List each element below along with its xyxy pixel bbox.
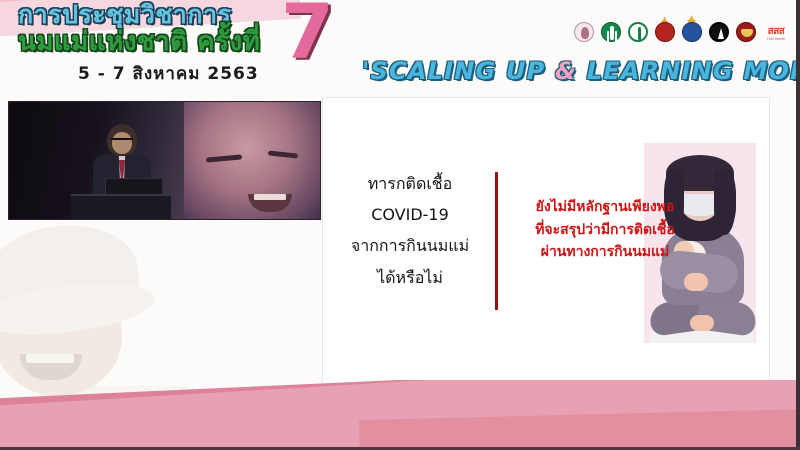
- conference-title-block: การประชุมวิชาการ นมแม่แห่งชาติ ครั้งที่ …: [18, 2, 260, 87]
- question-line-1: ทารกติดเชื้อ: [335, 168, 485, 199]
- logo-medical-council-icon: [735, 22, 757, 48]
- speaker-face: [112, 132, 132, 154]
- conference-tagline: 'SCALING UP & LEARNING MORE': [362, 57, 800, 85]
- logo-thaihealth-sss-icon: สสส Thai Health: [762, 22, 790, 48]
- tagline-ampersand: &: [555, 57, 577, 85]
- speaker-at-podium-video[interactable]: [8, 101, 321, 220]
- illustration-hair-right: [714, 169, 736, 235]
- conference-edition-number: 7: [281, 0, 334, 70]
- video-baby-face-backdrop: [184, 102, 320, 220]
- question-line-3: จากการกินนมแม่: [335, 230, 485, 261]
- window-edge-right: [796, 0, 800, 450]
- logo-royal-college-icon: [654, 22, 676, 48]
- question-line-2: COVID-19: [335, 199, 485, 230]
- illustration-foot: [690, 315, 714, 331]
- speaker-glasses-icon: [111, 138, 133, 143]
- presentation-slide: การประชุมวิชาการ นมแม่แห่งชาติ ครั้งที่ …: [0, 0, 800, 450]
- logo-thai-breastfeeding-foundation-icon: [573, 22, 595, 48]
- logo-royal-institute-icon: [681, 22, 703, 48]
- question-text-block: ทารกติดเชื้อ COVID-19 จากการกินนมแม่ ได้…: [335, 168, 485, 293]
- illustration-mother-hand: [684, 273, 708, 291]
- answer-line-1: ยังไม่มีหลักฐานเพียงพอ: [505, 196, 705, 219]
- conference-title-line2: นมแม่แห่งชาติ ครั้งที่: [18, 29, 260, 55]
- thaihealth-wordmark: สสส: [762, 27, 790, 37]
- thaihealth-subtext: Thai Health: [762, 37, 790, 41]
- baby-teeth: [254, 194, 286, 200]
- answer-text-block: ยังไม่มีหลักฐานเพียงพอ ที่จะสรุปว่ามีการ…: [505, 196, 705, 264]
- conference-title-line1: การประชุมวิชาการ: [18, 2, 260, 27]
- answer-line-3: ผ่านทางการกินนมแม่: [505, 241, 705, 264]
- logo-nursing-council-icon: [708, 22, 730, 48]
- podium: [71, 194, 171, 220]
- tagline-part-1: 'SCALING UP: [362, 57, 555, 85]
- baby-eye-right: [268, 150, 298, 158]
- logo-department-of-health-icon: [627, 22, 649, 48]
- organization-logo-strip: สสส Thai Health: [573, 22, 790, 48]
- conference-date: 5 - 7 สิงหาคม 2563: [78, 60, 260, 87]
- slide-footer-band: [0, 380, 800, 450]
- logo-ministry-of-public-health-icon: [600, 22, 622, 48]
- vertical-red-divider: [495, 172, 498, 310]
- tagline-part-2: LEARNING MORE': [577, 57, 800, 85]
- watermark-child-teeth: [26, 354, 74, 363]
- baby-eye-left: [206, 154, 242, 162]
- answer-line-2: ที่จะสรุปว่ามีการติดเชื้อ: [505, 219, 705, 242]
- question-line-4: ได้หรือไม่: [335, 262, 485, 293]
